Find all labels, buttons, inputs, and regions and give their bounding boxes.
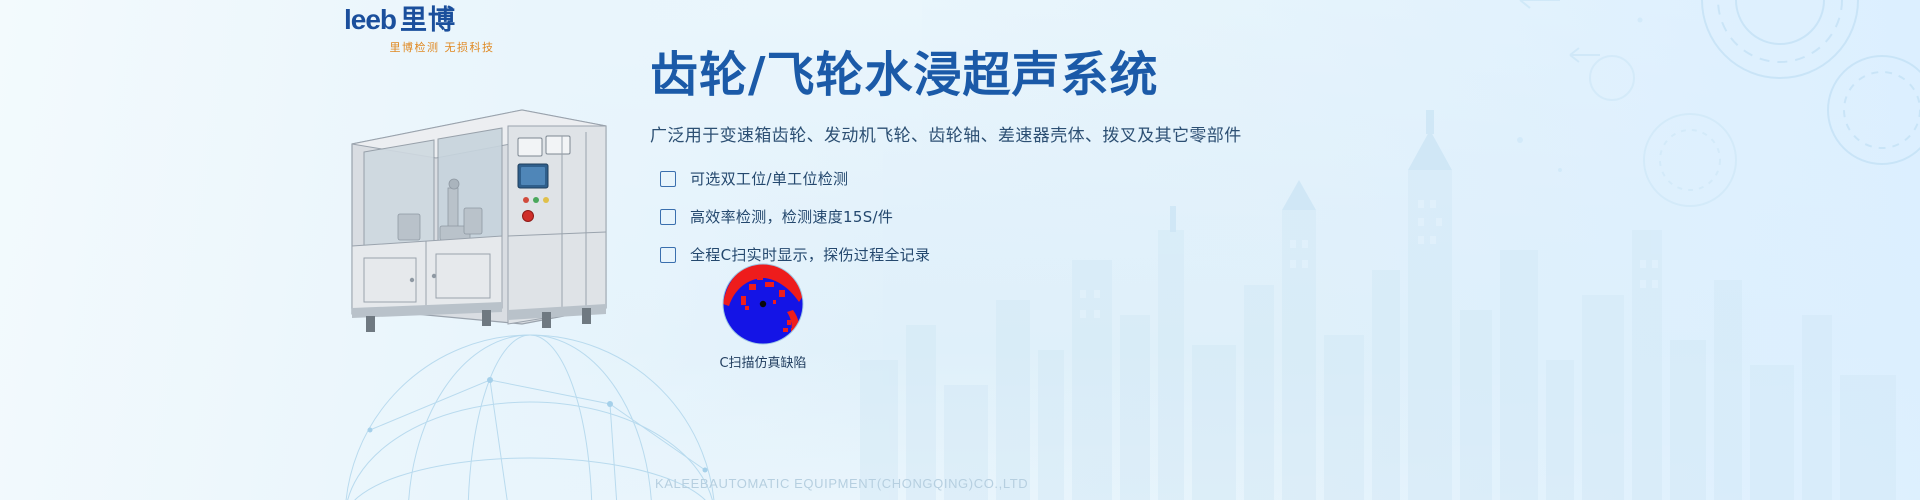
logo-chinese-name: 里博 [400, 7, 456, 34]
feature-item-2: 高效率检测，检测速度15S/件 [650, 206, 1350, 227]
company-watermark: KALEEBAUTOMATIC EQUIPMENT(CHONGQING)CO.,… [655, 476, 1028, 491]
checkbox-icon [660, 247, 676, 263]
brand-logo[interactable]: leeb 里博 里博检测 无损科技 [344, 6, 534, 55]
checkbox-icon [660, 171, 676, 187]
cscan-image [721, 262, 805, 346]
feature-label: 可选双工位/单工位检测 [690, 168, 848, 189]
feature-list: 可选双工位/单工位检测 高效率检测，检测速度15S/件 全程C扫实时显示，探伤过… [650, 168, 1350, 265]
cscan-caption: C扫描仿真缺陷 [673, 352, 853, 371]
feature-label: 高效率检测，检测速度15S/件 [690, 206, 893, 227]
promo-banner: leeb 里博 里博检测 无损科技 [0, 0, 1920, 500]
page-title: 齿轮/飞轮水浸超声系统 [650, 48, 1350, 103]
product-machine-image [336, 96, 622, 346]
logo-tagline: 里博检测 无损科技 [344, 39, 534, 55]
feature-item-1: 可选双工位/单工位检测 [650, 168, 1350, 189]
hero-subtitle: 广泛用于变速箱齿轮、发动机飞轮、齿轮轴、差速器壳体、拨叉及其它零部件 [650, 121, 1350, 146]
logo-latin-mark: leeb [344, 6, 396, 34]
logo-wordmark-row: leeb 里博 [344, 6, 534, 34]
cscan-figure: C扫描仿真缺陷 [673, 262, 853, 371]
checkbox-icon [660, 209, 676, 225]
hero-content: 齿轮/飞轮水浸超声系统 广泛用于变速箱齿轮、发动机飞轮、齿轮轴、差速器壳体、拨叉… [650, 48, 1350, 282]
